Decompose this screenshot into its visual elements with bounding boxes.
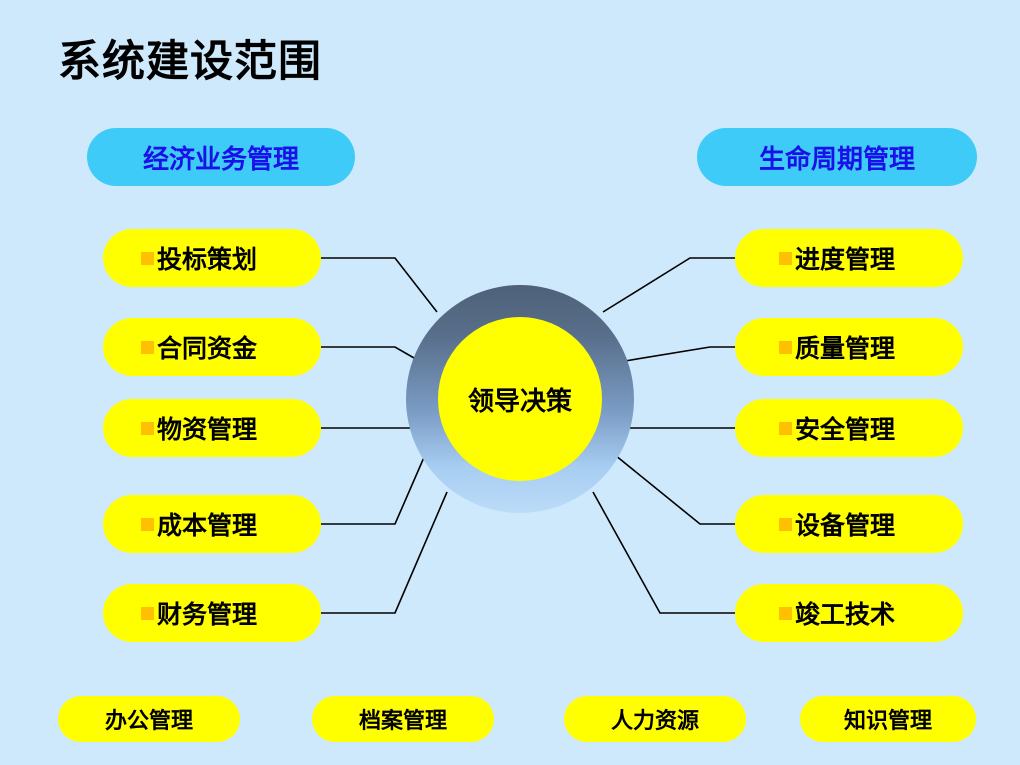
square-bullet-icon <box>779 422 792 435</box>
square-bullet-icon <box>141 341 154 354</box>
module-label: 成本管理 <box>157 506 257 542</box>
module-pill-right-1[interactable]: 质量管理 <box>735 318 963 376</box>
module-pill-left-4[interactable]: 财务管理 <box>103 584 321 642</box>
module-pill-right-3[interactable]: 设备管理 <box>735 495 963 553</box>
module-pill-left-2[interactable]: 物资管理 <box>103 399 321 457</box>
connector-right-1 <box>619 347 736 362</box>
bottom-pill-2[interactable]: 人力资源 <box>564 696 746 742</box>
bottom-label: 知识管理 <box>844 703 932 735</box>
module-label: 财务管理 <box>157 595 257 631</box>
module-label: 安全管理 <box>795 410 895 446</box>
category-left-label: 经济业务管理 <box>143 139 299 176</box>
module-label: 物资管理 <box>157 410 257 446</box>
bottom-label: 人力资源 <box>611 703 699 735</box>
module-pill-right-0[interactable]: 进度管理 <box>735 229 963 287</box>
module-pill-left-1[interactable]: 合同资金 <box>103 318 321 376</box>
connector-left-3 <box>320 455 425 524</box>
module-label: 质量管理 <box>795 329 895 365</box>
module-pill-right-2[interactable]: 安全管理 <box>735 399 963 457</box>
square-bullet-icon <box>779 607 792 620</box>
page-title: 系统建设范围 <box>58 38 322 87</box>
module-pill-left-3[interactable]: 成本管理 <box>103 495 321 553</box>
connector-left-1 <box>320 347 421 362</box>
connector-left-4 <box>320 492 447 613</box>
square-bullet-icon <box>779 341 792 354</box>
module-label: 竣工技术 <box>795 595 895 631</box>
connector-right-4 <box>593 492 736 613</box>
bottom-pill-3[interactable]: 知识管理 <box>800 696 976 742</box>
square-bullet-icon <box>141 252 154 265</box>
bottom-pill-0[interactable]: 办公管理 <box>58 696 240 742</box>
module-pill-left-0[interactable]: 投标策划 <box>103 229 321 287</box>
category-pill-left[interactable]: 经济业务管理 <box>87 128 355 186</box>
hub-core[interactable]: 领导决策 <box>438 317 602 481</box>
category-pill-right[interactable]: 生命周期管理 <box>697 128 977 186</box>
module-label: 合同资金 <box>157 329 257 365</box>
module-pill-right-4[interactable]: 竣工技术 <box>735 584 963 642</box>
square-bullet-icon <box>141 518 154 531</box>
slide-canvas: 系统建设范围 经济业务管理 生命周期管理 投标策划 合同资金 物资管理 成本管理 <box>0 0 1020 765</box>
square-bullet-icon <box>779 518 792 531</box>
connector-left-0 <box>320 258 437 312</box>
bottom-label: 档案管理 <box>359 703 447 735</box>
module-label: 投标策划 <box>157 240 257 276</box>
connector-right-0 <box>603 258 736 312</box>
connector-right-3 <box>615 455 736 524</box>
bottom-pill-1[interactable]: 档案管理 <box>312 696 494 742</box>
category-right-label: 生命周期管理 <box>759 139 915 176</box>
hub-label: 领导决策 <box>468 381 572 418</box>
bottom-label: 办公管理 <box>105 703 193 735</box>
square-bullet-icon <box>141 422 154 435</box>
module-label: 进度管理 <box>795 240 895 276</box>
square-bullet-icon <box>141 607 154 620</box>
module-label: 设备管理 <box>795 506 895 542</box>
square-bullet-icon <box>779 252 792 265</box>
